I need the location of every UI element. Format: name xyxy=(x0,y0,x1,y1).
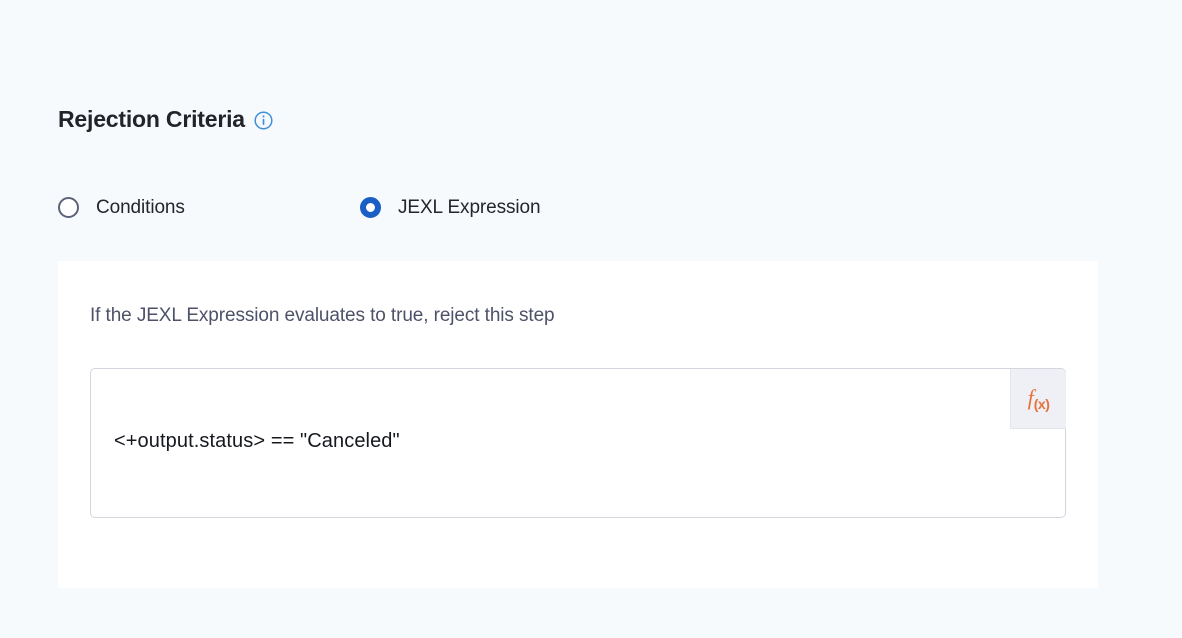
expression-value[interactable]: <+output.status> == "Canceled" xyxy=(114,431,400,451)
radio-label-jexl-expression: JEXL Expression xyxy=(398,198,540,217)
expression-hint-text: If the JEXL Expression evaluates to true… xyxy=(90,306,555,325)
expression-input[interactable]: <+output.status> == "Canceled" xyxy=(90,368,1066,518)
radio-option-conditions[interactable]: Conditions xyxy=(58,197,360,218)
expression-editor: <+output.status> == "Canceled" f(x) xyxy=(90,368,1066,518)
info-icon[interactable] xyxy=(254,111,273,130)
radio-circle-icon-conditions[interactable] xyxy=(58,197,79,218)
radio-option-jexl-expression[interactable]: JEXL Expression xyxy=(360,197,540,218)
fx-button[interactable]: f(x) xyxy=(1010,369,1066,429)
section-header: Rejection Criteria xyxy=(58,108,273,131)
fx-icon: f(x) xyxy=(1028,387,1050,411)
radio-label-conditions: Conditions xyxy=(96,198,185,217)
criteria-type-radio-group: Conditions JEXL Expression xyxy=(58,197,540,218)
page-title: Rejection Criteria xyxy=(58,108,245,131)
radio-circle-icon-jexl-expression[interactable] xyxy=(360,197,381,218)
jexl-expression-panel: If the JEXL Expression evaluates to true… xyxy=(58,261,1098,588)
fx-subscript: (x) xyxy=(1034,396,1050,412)
